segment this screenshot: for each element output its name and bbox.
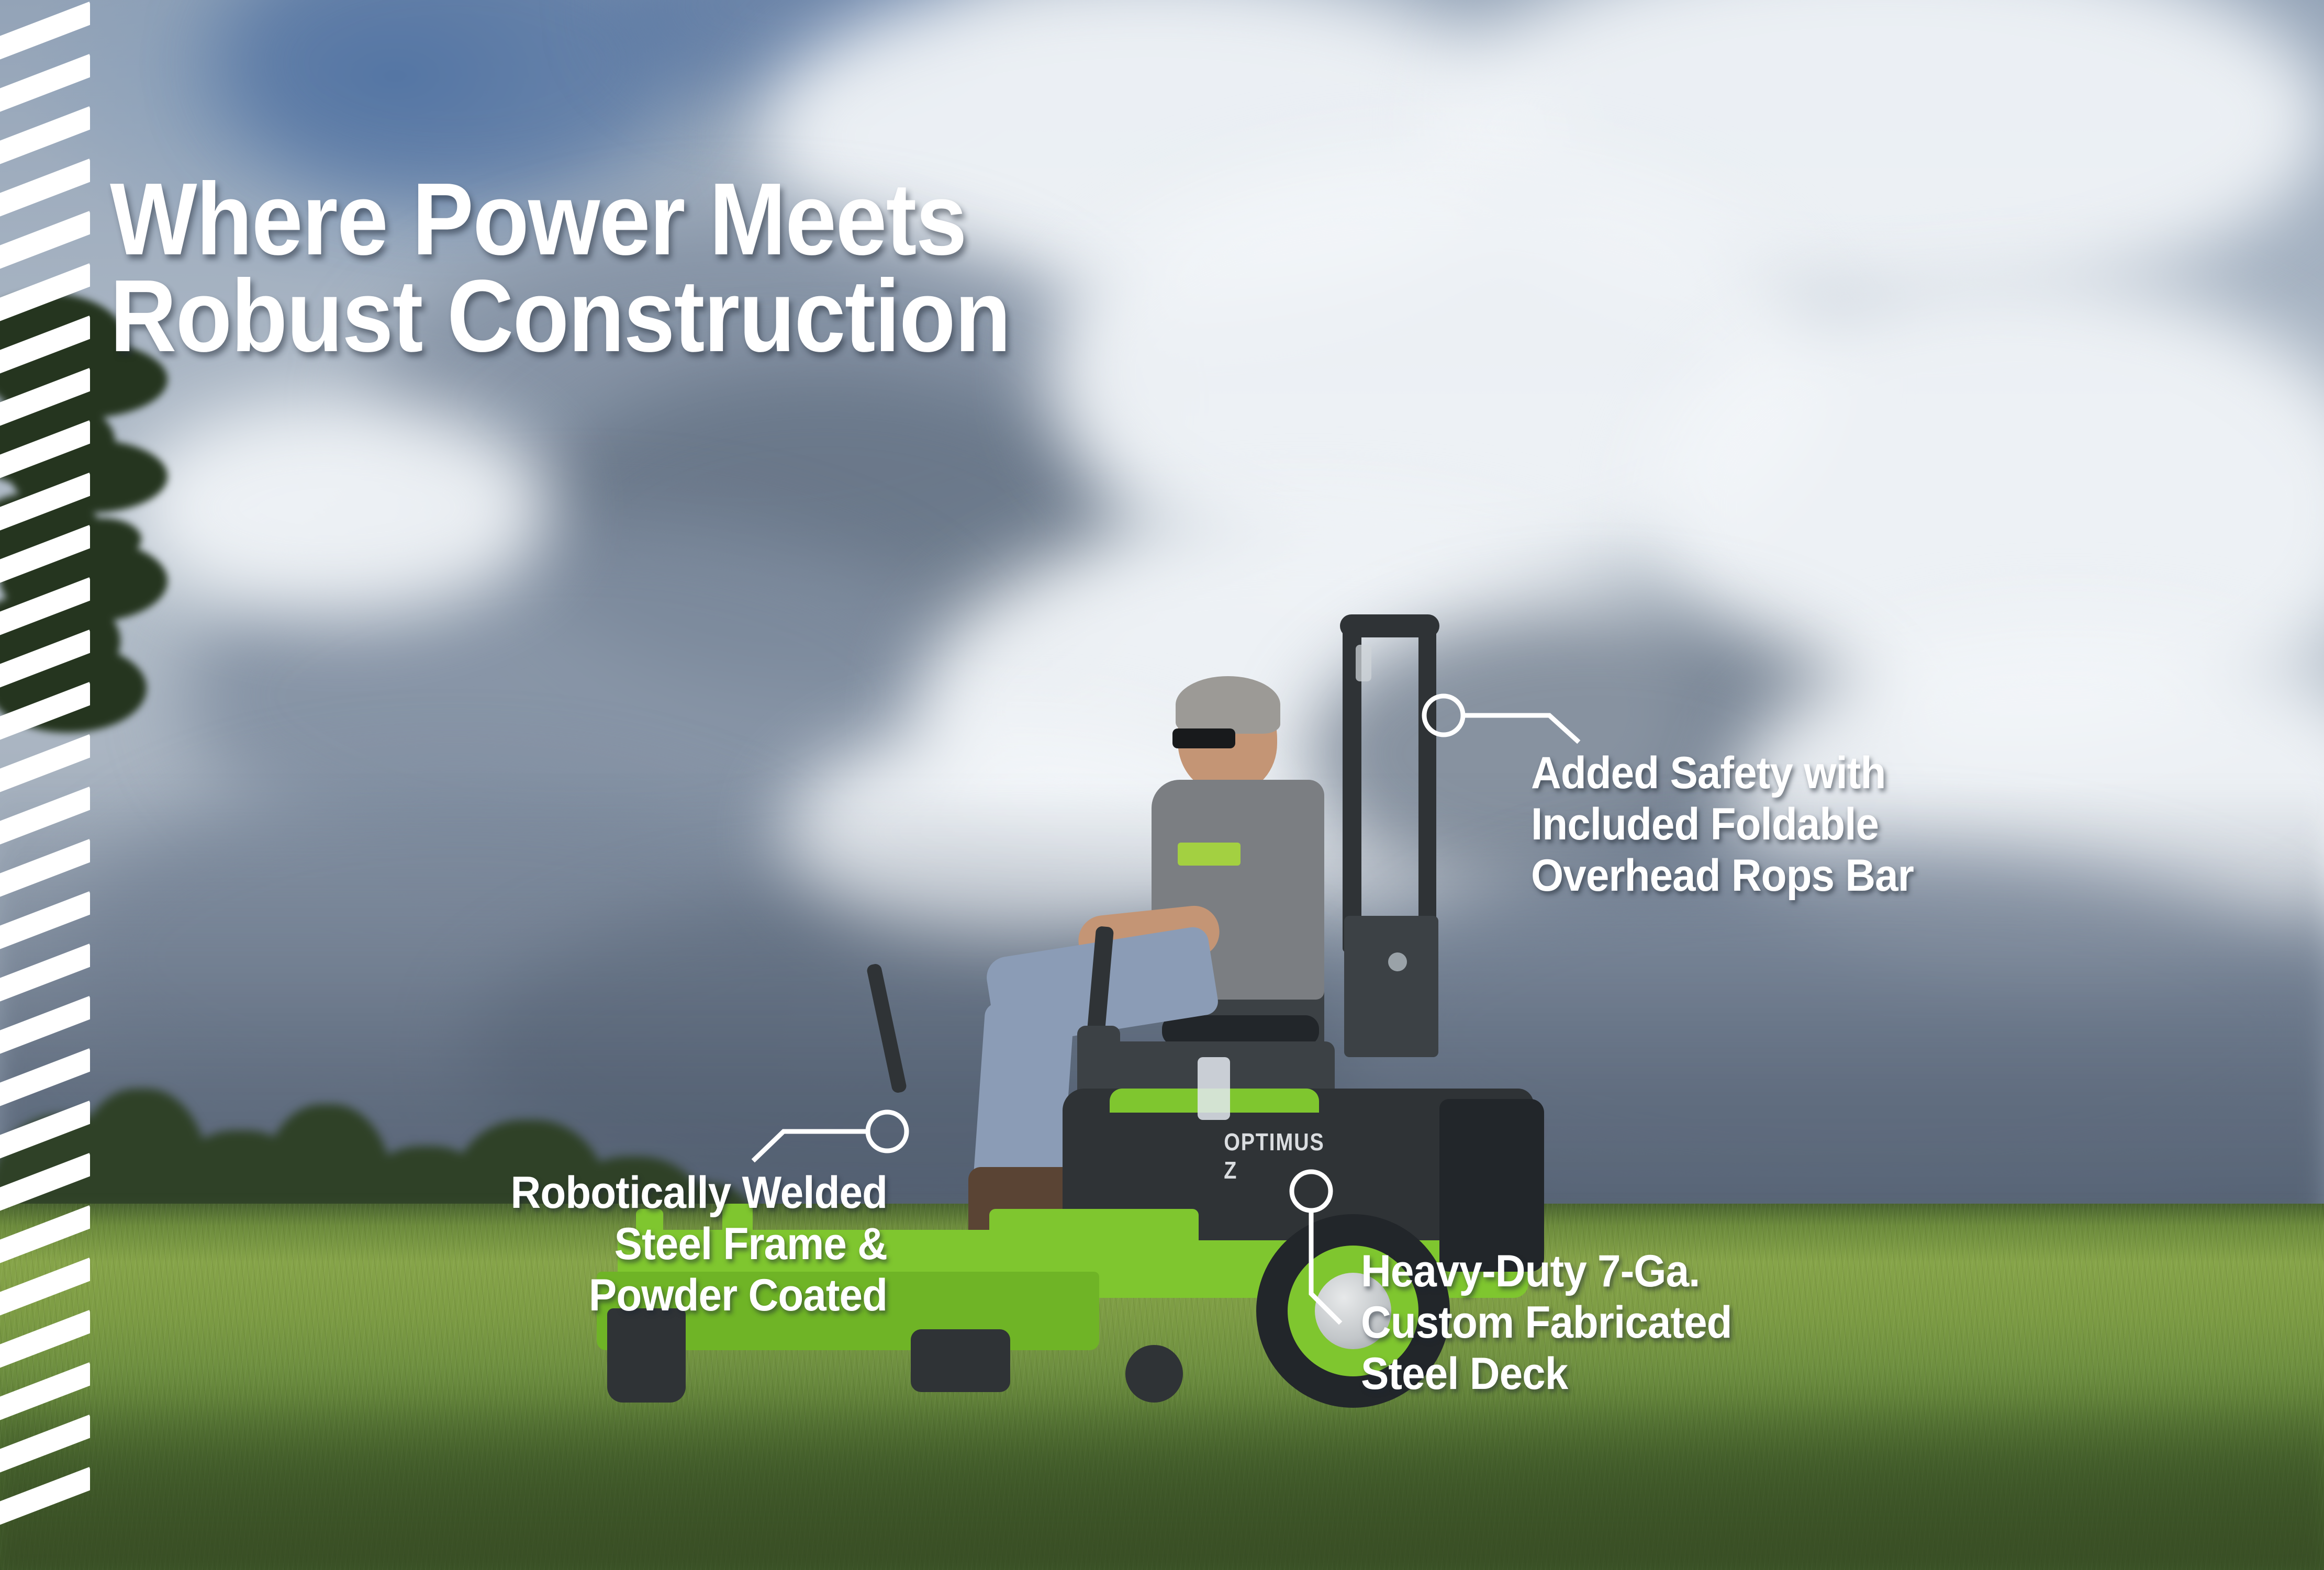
callout-deck: Heavy-Duty 7-Ga. Custom Fabricated Steel… xyxy=(1361,1246,1732,1399)
callout-frame: Robotically Welded Steel Frame & Powder … xyxy=(174,1167,887,1321)
marketing-hero-banner: OPTIMUS Z xyxy=(0,0,2324,1570)
callout-rops: Added Safety with Included Foldable Over… xyxy=(1531,747,1914,901)
page-headline: Where Power Meets Robust Construction xyxy=(110,171,1010,364)
decorative-diagonal-stripes xyxy=(0,0,90,1570)
